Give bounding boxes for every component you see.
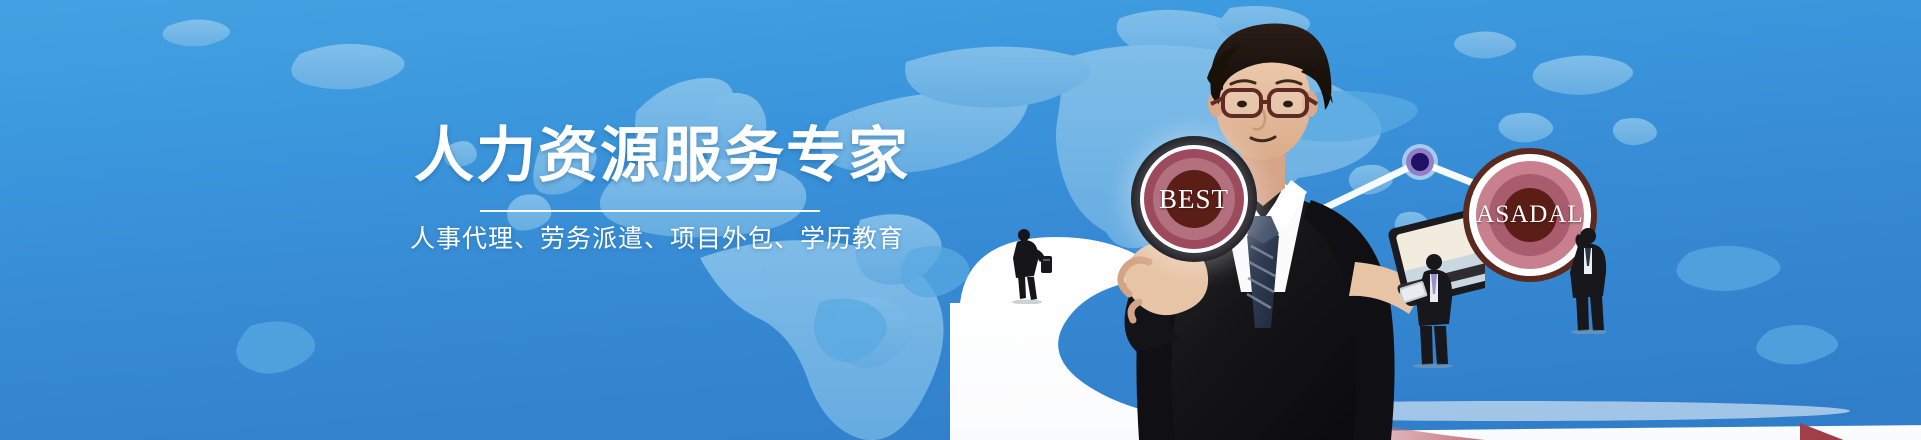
hero-businessman: [1055, 0, 1485, 440]
title-divider: [480, 210, 820, 212]
hero-banner: 人力资源服务专家 人事代理、劳务派遣、项目外包、学历教育: [0, 0, 1921, 440]
badge-label: ASADAL: [1476, 201, 1583, 229]
figure-businessman-with-briefcase: [1008, 226, 1054, 304]
badge-label: BEST: [1159, 184, 1229, 215]
page-subtitle: 人事代理、劳务派遣、项目外包、学历教育: [410, 226, 890, 254]
badge-best: BEST: [1131, 136, 1257, 262]
page-title: 人力资源服务专家: [414, 110, 890, 186]
figure-businessman-looking-ahead: [1560, 222, 1614, 334]
banner-copy: 人力资源服务专家 人事代理、劳务派遣、项目外包、学历教育: [410, 110, 890, 254]
figure-businessman-holding-laptop: [1400, 250, 1460, 368]
